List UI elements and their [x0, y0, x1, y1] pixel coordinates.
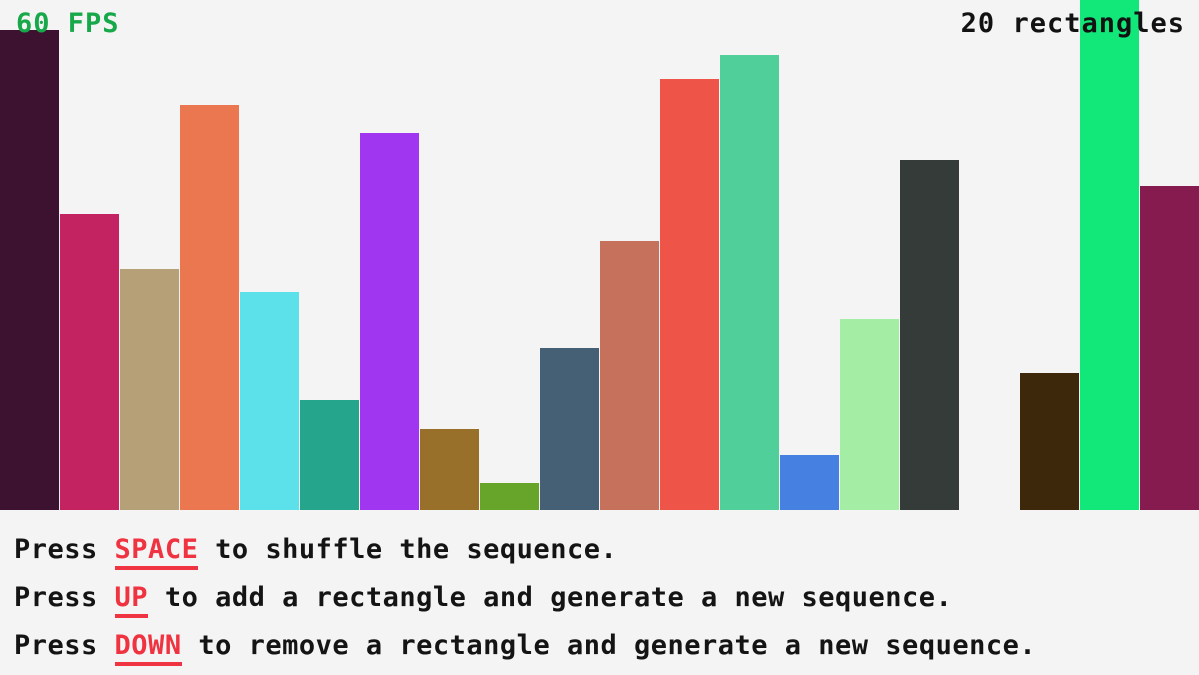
- bar-rectangle: [840, 319, 899, 510]
- bar-rectangle: [300, 400, 359, 510]
- bar-rectangle: [600, 241, 659, 510]
- bar-rectangle: [120, 269, 179, 510]
- instruction-line: Press SPACE to shuffle the sequence.: [14, 526, 1199, 574]
- rectangle-canvas[interactable]: [0, 0, 1199, 510]
- instruction-prefix: Press: [14, 582, 115, 613]
- instruction-prefix: Press: [14, 534, 115, 565]
- key-hint-space[interactable]: SPACE: [115, 534, 199, 570]
- bar-rectangle: [60, 214, 119, 510]
- bar-rectangle: [1140, 186, 1199, 510]
- instructions-panel: Press SPACE to shuffle the sequence.Pres…: [0, 510, 1199, 675]
- rectangle-count-label: 20 rectangles: [961, 10, 1185, 37]
- bar-rectangle: [900, 160, 959, 510]
- instruction-suffix: to shuffle the sequence.: [198, 534, 617, 565]
- instruction-line: Press UP to add a rectangle and generate…: [14, 574, 1199, 622]
- bar-rectangle: [240, 292, 299, 510]
- bar-rectangle: [480, 483, 539, 510]
- app-root: 60 FPS 20 rectangles Press SPACE to shuf…: [0, 0, 1199, 675]
- bar-rectangle: [780, 455, 839, 510]
- instruction-line: Press DOWN to remove a rectangle and gen…: [14, 622, 1199, 670]
- bar-rectangle: [0, 30, 59, 510]
- instruction-suffix: to remove a rectangle and generate a new…: [182, 630, 1037, 661]
- fps-counter: 60 FPS: [16, 10, 120, 37]
- bar-rectangle: [1020, 373, 1079, 510]
- instruction-suffix: to add a rectangle and generate a new se…: [148, 582, 952, 613]
- bar-rectangle: [420, 429, 479, 510]
- key-hint-down[interactable]: DOWN: [115, 630, 182, 666]
- bar-rectangle: [660, 79, 719, 510]
- bar-rectangle: [720, 55, 779, 510]
- bar-rectangle: [1080, 0, 1139, 510]
- bar-rectangle: [180, 105, 239, 510]
- instruction-prefix: Press: [14, 630, 115, 661]
- key-hint-up[interactable]: UP: [115, 582, 149, 618]
- bar-rectangle: [360, 133, 419, 510]
- bar-rectangle: [540, 348, 599, 510]
